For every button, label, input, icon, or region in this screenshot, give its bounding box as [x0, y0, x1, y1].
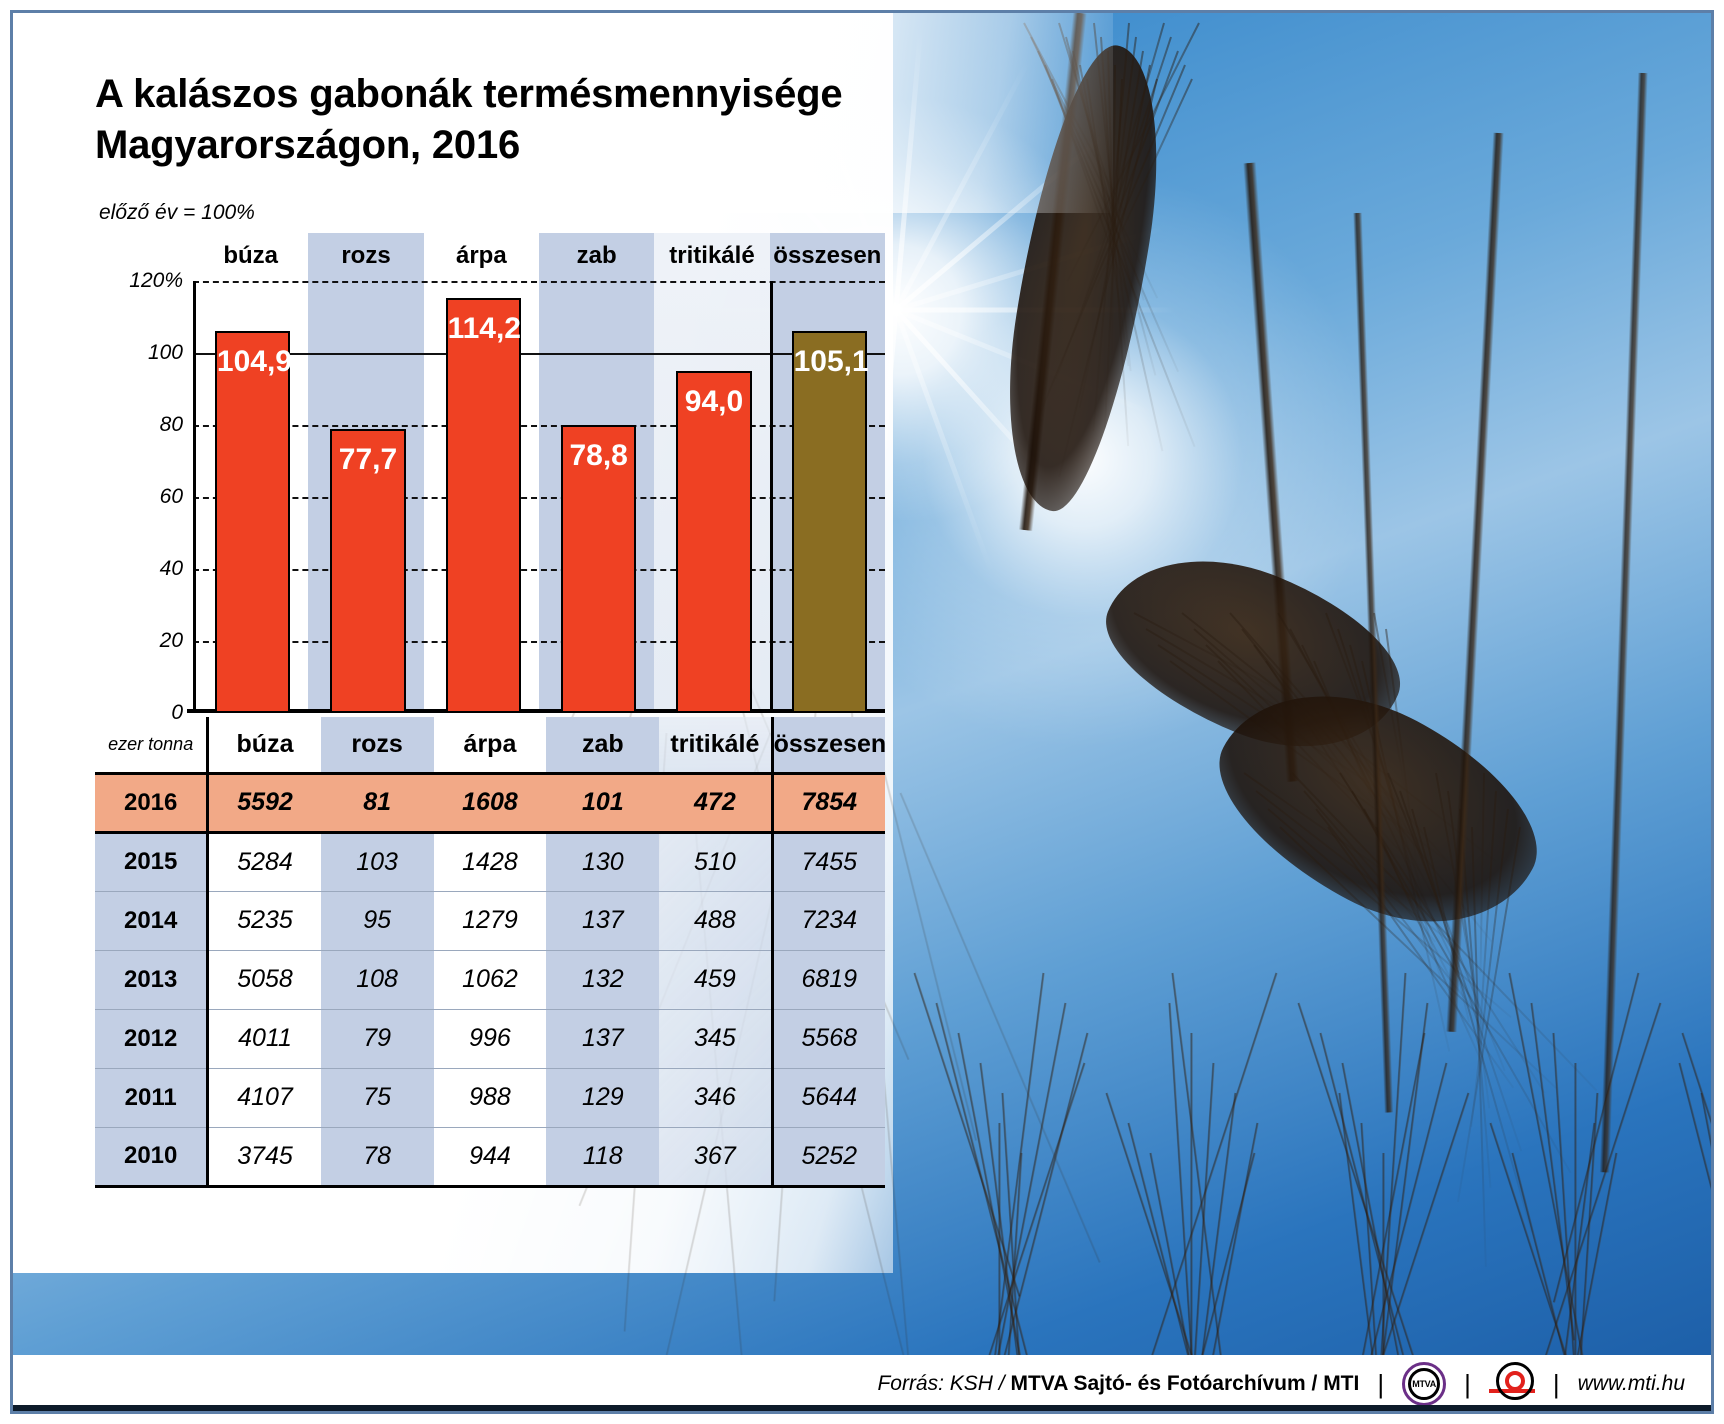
table-cell-rozs: 103 — [321, 832, 434, 891]
bar-tritikálé: 94,0 — [676, 371, 752, 713]
mti-url: www.mti.hu — [1578, 1372, 1685, 1396]
chart-col-header-összesen: összesen — [770, 235, 885, 277]
bar-összesen: 105,1 — [792, 331, 868, 713]
table-cell-zab: 132 — [546, 950, 659, 1009]
table-cell-tritikálé: 472 — [659, 773, 772, 832]
table-cell-árpa: 988 — [434, 1068, 547, 1127]
table-cell-year: 2015 — [95, 832, 208, 891]
table-cell-összesen: 7854 — [772, 773, 885, 832]
chart-col-header-búza: búza — [193, 235, 308, 277]
table-cell-tritikálé: 488 — [659, 891, 772, 950]
bar-zab: 78,8 — [561, 425, 637, 713]
source-bold: MTVA Sajtó- és Fotóarchívum / MTI — [1010, 1372, 1359, 1395]
bar-label-árpa: 114,2 — [448, 312, 520, 346]
poster-frame: A kalászos gabonák termésmennyisége Magy… — [10, 10, 1714, 1414]
table-cell-rozs: 78 — [321, 1127, 434, 1186]
footer-separator-1: | — [1373, 1369, 1388, 1400]
bar-label-tritikálé: 94,0 — [678, 385, 750, 419]
table-cell-zab: 118 — [546, 1127, 659, 1186]
chart-col-header-tritikálé: tritikálé — [654, 235, 769, 277]
x-axis-line — [187, 709, 885, 713]
data-table: ezer tonna búza rozs árpa zab tritikálé … — [95, 717, 885, 1188]
wheat-stalk — [1600, 73, 1648, 1173]
total-separator-line — [770, 281, 773, 713]
table-cell-rozs: 95 — [321, 891, 434, 950]
bar-label-zab: 78,8 — [563, 439, 635, 473]
table-cell-búza: 4011 — [208, 1009, 321, 1068]
gridline-80 — [193, 425, 885, 427]
table-unit-label: ezer tonna — [95, 717, 208, 773]
bar-chart: búzarozsárpazabtritikáléösszesen 0204060… — [95, 233, 885, 713]
table-cell-búza: 4107 — [208, 1068, 321, 1127]
table-cell-year: 2013 — [95, 950, 208, 1009]
table-row: 201452359512791374887234 — [95, 891, 885, 950]
table-cell-árpa: 944 — [434, 1127, 547, 1186]
table-cell-zab: 101 — [546, 773, 659, 832]
mtva-logo-label: MTVA — [1408, 1368, 1440, 1400]
table-cell-árpa: 1428 — [434, 832, 547, 891]
table-cell-árpa: 1279 — [434, 891, 547, 950]
table-cell-összesen: 5252 — [772, 1127, 885, 1186]
y-tick-100: 100 — [93, 341, 183, 365]
mti-logo-icon — [1489, 1362, 1535, 1406]
bar-label-rozs: 77,7 — [332, 443, 404, 477]
table-cell-tritikálé: 346 — [659, 1068, 772, 1127]
wheat-stalk — [1105, 1093, 1321, 1361]
bar-label-búza: 104,9 — [217, 345, 289, 379]
table-cell-tritikálé: 459 — [659, 950, 772, 1009]
table-cell-year: 2014 — [95, 891, 208, 950]
chart-plot-area: 020406080100120% 104,977,7114,278,894,01… — [193, 281, 885, 713]
table-col-header-osszesen: összesen — [772, 717, 885, 773]
table-cell-búza: 5284 — [208, 832, 321, 891]
table-row: 2013505810810621324596819 — [95, 950, 885, 1009]
y-tick-80: 80 — [93, 413, 183, 437]
table-cell-összesen: 7455 — [772, 832, 885, 891]
title-line-1: A kalászos gabonák termésmennyisége — [95, 69, 915, 120]
table-cell-összesen: 6819 — [772, 950, 885, 1009]
y-tick-60: 60 — [93, 485, 183, 509]
table-col-header-tritikale: tritikálé — [659, 717, 772, 773]
table-cell-rozs: 81 — [321, 773, 434, 832]
table-header-row: ezer tonna búza rozs árpa zab tritikálé … — [95, 717, 885, 773]
gridline-100 — [193, 353, 885, 355]
bottom-accent-bar — [13, 1405, 1711, 1411]
table-cell-búza: 3745 — [208, 1127, 321, 1186]
bar-label-összesen: 105,1 — [794, 345, 866, 379]
bar-árpa: 114,2 — [446, 298, 522, 713]
table-row: 201655928116081014727854 — [95, 773, 885, 832]
source-text: Forrás: KSH / MTVA Sajtó- és Fotóarchívu… — [877, 1372, 1359, 1396]
mtva-logo-icon: MTVA — [1402, 1362, 1446, 1406]
table-col-header-arpa: árpa — [434, 717, 547, 773]
data-table-wrapper: ezer tonna búza rozs árpa zab tritikálé … — [95, 717, 885, 1188]
table-cell-összesen: 5644 — [772, 1068, 885, 1127]
table-row: 20103745789441183675252 — [95, 1127, 885, 1186]
page-title: A kalászos gabonák termésmennyisége Magy… — [95, 69, 915, 171]
table-body: 2016559281160810147278542015528410314281… — [95, 773, 885, 1186]
table-cell-year: 2012 — [95, 1009, 208, 1068]
table-cell-búza: 5592 — [208, 773, 321, 832]
y-tick-20: 20 — [93, 629, 183, 653]
wheat-stalk — [1190, 1033, 1193, 1361]
table-cell-year: 2010 — [95, 1127, 208, 1186]
table-col-header-zab: zab — [546, 717, 659, 773]
table-cell-tritikálé: 510 — [659, 832, 772, 891]
table-cell-búza: 5058 — [208, 950, 321, 1009]
mti-logo-ring-inner — [1505, 1371, 1525, 1391]
table-cell-árpa: 996 — [434, 1009, 547, 1068]
chart-col-header-rozs: rozs — [308, 235, 423, 277]
footer-separator-3: | — [1549, 1369, 1564, 1400]
table-row: 2015528410314281305107455 — [95, 832, 885, 891]
table-cell-árpa: 1608 — [434, 773, 547, 832]
y-tick-120: 120% — [93, 269, 183, 293]
gridline-60 — [193, 497, 885, 499]
footer-separator-2: | — [1460, 1369, 1475, 1400]
table-row: 20114107759881293465644 — [95, 1068, 885, 1127]
gridline-120 — [193, 281, 885, 283]
table-cell-összesen: 7234 — [772, 891, 885, 950]
y-axis-line — [193, 281, 196, 713]
y-tick-40: 40 — [93, 557, 183, 581]
bar-búza: 104,9 — [215, 331, 291, 713]
infographic-poster: A kalászos gabonák termésmennyisége Magy… — [0, 0, 1724, 1424]
table-cell-zab: 129 — [546, 1068, 659, 1127]
table-cell-árpa: 1062 — [434, 950, 547, 1009]
chart-col-header-zab: zab — [539, 235, 654, 277]
table-row: 20124011799961373455568 — [95, 1009, 885, 1068]
table-cell-zab: 137 — [546, 1009, 659, 1068]
table-cell-year: 2011 — [95, 1068, 208, 1127]
source-prefix: Forrás: KSH / — [877, 1372, 1004, 1395]
table-col-header-buza: búza — [208, 717, 321, 773]
table-head: ezer tonna búza rozs árpa zab tritikálé … — [95, 717, 885, 773]
table-cell-rozs: 108 — [321, 950, 434, 1009]
title-line-2: Magyarországon, 2016 — [95, 120, 915, 171]
table-cell-rozs: 75 — [321, 1068, 434, 1127]
gridline-40 — [193, 569, 885, 571]
table-col-header-rozs: rozs — [321, 717, 434, 773]
chart-col-header-árpa: árpa — [424, 235, 539, 277]
table-cell-rozs: 79 — [321, 1009, 434, 1068]
table-cell-összesen: 5568 — [772, 1009, 885, 1068]
wheat-stalk — [1700, 1093, 1711, 1361]
bar-rozs: 77,7 — [330, 429, 406, 713]
chart-subnote: előző év = 100% — [99, 201, 255, 225]
table-cell-zab: 130 — [546, 832, 659, 891]
gridline-20 — [193, 641, 885, 643]
table-cell-tritikálé: 367 — [659, 1127, 772, 1186]
table-cell-búza: 5235 — [208, 891, 321, 950]
table-cell-year: 2016 — [95, 773, 208, 832]
footer-bar: Forrás: KSH / MTVA Sajtó- és Fotóarchívu… — [13, 1355, 1711, 1411]
table-cell-tritikálé: 345 — [659, 1009, 772, 1068]
table-cell-zab: 137 — [546, 891, 659, 950]
